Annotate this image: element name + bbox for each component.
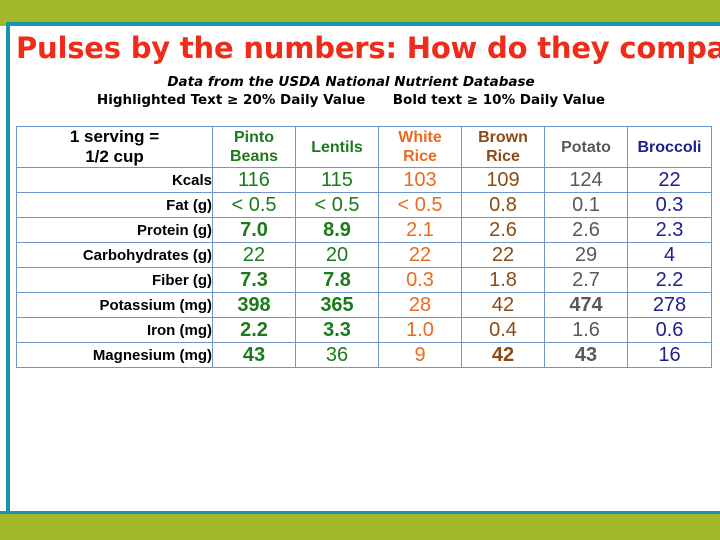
cell-potato: 1.6 [545, 318, 628, 343]
table-body: Kcals11611510310912422Fat (g)< 0.5< 0.5<… [17, 168, 712, 368]
cell-broccoli: 4 [628, 243, 712, 268]
cell-lentils: 365 [296, 293, 379, 318]
column-header-line1: Lentils [296, 138, 378, 157]
cell-white_rice: 28 [379, 293, 462, 318]
cell-brown_rice: 2.6 [462, 218, 545, 243]
decorative-bottom-band [0, 514, 720, 540]
column-header-line2: Rice [462, 147, 544, 166]
cell-pinto: 7.0 [213, 218, 296, 243]
column-header-brown_rice: BrownRice [462, 127, 545, 168]
nutrition-comparison-table: 1 serving = 1/2 cup PintoBeansLentilsWhi… [16, 126, 712, 368]
row-label: Protein (g) [17, 218, 213, 243]
page-title: Pulses by the numbers: How do they compa… [12, 26, 720, 66]
subtitle-block: Data from the USDA National Nutrient Dat… [12, 74, 720, 110]
table-row: Protein (g)7.08.92.12.62.62.3 [17, 218, 712, 243]
cell-lentils: 3.3 [296, 318, 379, 343]
cell-potato: 43 [545, 343, 628, 368]
cell-brown_rice: 0.8 [462, 193, 545, 218]
cell-white_rice: < 0.5 [379, 193, 462, 218]
cell-pinto: 22 [213, 243, 296, 268]
cell-pinto: < 0.5 [213, 193, 296, 218]
cell-potato: 2.7 [545, 268, 628, 293]
cell-white_rice: 9 [379, 343, 462, 368]
row-label: Magnesium (mg) [17, 343, 213, 368]
column-header-pinto: PintoBeans [213, 127, 296, 168]
cell-broccoli: 22 [628, 168, 712, 193]
row-label: Fiber (g) [17, 268, 213, 293]
column-header-line1: Brown [462, 128, 544, 147]
cell-lentils: 7.8 [296, 268, 379, 293]
decorative-left-rule [6, 22, 10, 518]
row-label: Carbohydrates (g) [17, 243, 213, 268]
data-source-note: Data from the USDA National Nutrient Dat… [12, 74, 690, 91]
cell-brown_rice: 0.4 [462, 318, 545, 343]
cell-lentils: 36 [296, 343, 379, 368]
table-header: 1 serving = 1/2 cup PintoBeansLentilsWhi… [17, 127, 712, 168]
cell-brown_rice: 1.8 [462, 268, 545, 293]
cell-lentils: 115 [296, 168, 379, 193]
cell-white_rice: 22 [379, 243, 462, 268]
cell-broccoli: 2.3 [628, 218, 712, 243]
legend-bold-note: Bold text ≥ 10% Daily Value [393, 92, 605, 108]
cell-broccoli: 16 [628, 343, 712, 368]
column-header-line2: Beans [213, 147, 295, 166]
row-label: Iron (mg) [17, 318, 213, 343]
cell-pinto: 7.3 [213, 268, 296, 293]
table-row: Kcals11611510310912422 [17, 168, 712, 193]
cell-lentils: 8.9 [296, 218, 379, 243]
column-header-lentils: Lentils [296, 127, 379, 168]
cell-white_rice: 103 [379, 168, 462, 193]
cell-broccoli: 278 [628, 293, 712, 318]
cell-white_rice: 2.1 [379, 218, 462, 243]
cell-brown_rice: 22 [462, 243, 545, 268]
cell-pinto: 116 [213, 168, 296, 193]
cell-brown_rice: 109 [462, 168, 545, 193]
cell-potato: 124 [545, 168, 628, 193]
table-row: Fat (g)< 0.5< 0.5< 0.50.80.10.3 [17, 193, 712, 218]
legend-highlight-note: Highlighted Text ≥ 20% Daily Value [97, 92, 365, 108]
cell-lentils: < 0.5 [296, 193, 379, 218]
table-row: Carbohydrates (g)22202222294 [17, 243, 712, 268]
table-row: Fiber (g)7.37.80.31.82.72.2 [17, 268, 712, 293]
cell-pinto: 398 [213, 293, 296, 318]
table-header-row: 1 serving = 1/2 cup PintoBeansLentilsWhi… [17, 127, 712, 168]
cell-potato: 2.6 [545, 218, 628, 243]
row-label: Potassium (mg) [17, 293, 213, 318]
column-header-line1: White [379, 128, 461, 147]
cell-lentils: 20 [296, 243, 379, 268]
cell-potato: 29 [545, 243, 628, 268]
column-header-line2: Rice [379, 147, 461, 166]
cell-white_rice: 1.0 [379, 318, 462, 343]
cell-potato: 474 [545, 293, 628, 318]
table-row: Magnesium (mg)43369424316 [17, 343, 712, 368]
cell-broccoli: 2.2 [628, 268, 712, 293]
serving-size-line2: 1/2 cup [17, 147, 212, 167]
cell-pinto: 2.2 [213, 318, 296, 343]
cell-broccoli: 0.3 [628, 193, 712, 218]
serving-size-header: 1 serving = 1/2 cup [17, 127, 213, 168]
cell-brown_rice: 42 [462, 293, 545, 318]
column-header-line1: Broccoli [628, 138, 711, 157]
cell-potato: 0.1 [545, 193, 628, 218]
serving-size-line1: 1 serving = [17, 127, 212, 147]
cell-white_rice: 0.3 [379, 268, 462, 293]
table-row: Iron (mg)2.23.31.00.41.60.6 [17, 318, 712, 343]
cell-pinto: 43 [213, 343, 296, 368]
column-header-white_rice: WhiteRice [379, 127, 462, 168]
cell-brown_rice: 42 [462, 343, 545, 368]
row-label: Fat (g) [17, 193, 213, 218]
column-header-line1: Potato [545, 138, 627, 157]
slide-content: Pulses by the numbers: How do they compa… [12, 26, 720, 514]
column-header-potato: Potato [545, 127, 628, 168]
table-row: Potassium (mg)3983652842474278 [17, 293, 712, 318]
cell-broccoli: 0.6 [628, 318, 712, 343]
legend-note: Highlighted Text ≥ 20% Daily Value Bold … [12, 91, 690, 110]
row-label: Kcals [17, 168, 213, 193]
column-header-line1: Pinto [213, 128, 295, 147]
column-header-broccoli: Broccoli [628, 127, 712, 168]
slide-canvas: Pulses by the numbers: How do they compa… [0, 0, 720, 540]
